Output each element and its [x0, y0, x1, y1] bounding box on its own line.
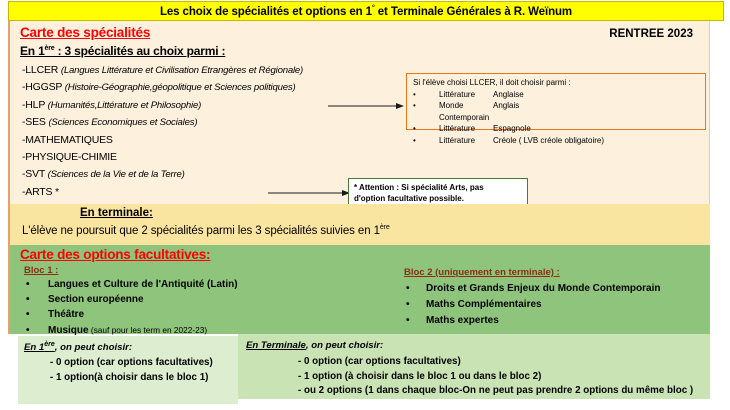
list-item: •Théâtre: [26, 307, 346, 322]
list-item: •Maths Complémentaires: [406, 297, 706, 313]
options-heading: Carte des options facultatives:: [20, 247, 210, 262]
bullet-icon: •: [26, 307, 48, 322]
terminale-band: En terminale: L'élève ne poursuit que 2 …: [8, 204, 710, 245]
llcer-box-header: Si l'élève choisi LLCER, il doit choisir…: [413, 78, 699, 87]
arrow-to-llcer-icon: [328, 101, 404, 111]
list-item: -HGGSP (Histoire-Géographie,géopolitique…: [22, 79, 362, 96]
arrow-to-attention-icon: [268, 188, 350, 198]
bloc1-list: •Langues et Culture de l'Antiquité (Lati…: [26, 277, 346, 338]
choix-premiere-superscript: ère: [44, 341, 55, 348]
bullet-icon: •: [406, 297, 426, 313]
list-item: -MATHEMATIQUES: [22, 132, 362, 149]
list-item: •Section européenne: [26, 292, 346, 307]
list-item: -SVT (Sciences de la Vie et de la Terre): [22, 166, 362, 183]
choix-terminale-line: - ou 2 options (1 dans chaque bloc-On ne…: [246, 384, 710, 399]
terminale-description: L'élève ne poursuit que 2 spécialités pa…: [22, 224, 390, 237]
bullet-icon: •: [26, 277, 48, 292]
specialites-heading: Carte des spécialités: [20, 25, 150, 40]
choix-terminale-line: - 1 option (à choisir dans le bloc 1 ou …: [246, 370, 710, 385]
bloc2-list: •Droits et Grands Enjeux du Monde Contem…: [406, 281, 706, 329]
slide-title-banner: Les choix de spécialités et options en 1…: [8, 1, 724, 21]
choix-terminale-header: En Terminale, on peut choisir:: [246, 340, 710, 351]
bullet-icon: •: [413, 123, 439, 134]
list-item: •LittératureCréole ( LVB créole obligato…: [413, 135, 699, 146]
specialites-panel: Carte des spécialités RENTREE 2023 En 1è…: [8, 21, 710, 204]
bloc1-title: Bloc 1 :: [24, 265, 58, 276]
bullet-icon: •: [413, 135, 439, 146]
list-item: -PHYSIQUE-CHIMIE: [22, 149, 362, 166]
attention-line-1: * Attention : Si spécialité Arts, pas: [354, 182, 523, 193]
list-item: -LLCER (Langues Littérature et Civilisat…: [22, 62, 362, 79]
list-item: •Langues et Culture de l'Antiquité (Lati…: [26, 277, 346, 292]
choix-premiere-box: En 1ère, on peut choisir: - 0 option (ca…: [18, 336, 238, 404]
list-item: •Monde ContemporainAnglais: [413, 100, 699, 123]
slide-canvas: Les choix de spécialités et options en 1…: [0, 0, 730, 410]
attention-line-2: d'option facultative possible.: [354, 193, 523, 204]
list-item: -SES (Sciences Economiques et Sociales): [22, 114, 362, 131]
rentree-label: RENTREE 2023: [609, 28, 693, 40]
bullet-icon: •: [406, 281, 426, 297]
bloc2-title: Bloc 2 (uniquement en terminale) :: [404, 267, 560, 278]
list-item: •LittératureEspagnole: [413, 123, 699, 134]
choix-premiere-line: - 0 option (car options facultatives): [24, 356, 238, 371]
subheading-superscript: ère: [45, 45, 55, 52]
bullet-icon: •: [26, 292, 48, 307]
llcer-choices-box: Si l'élève choisi LLCER, il doit choisir…: [406, 73, 706, 130]
list-item: -HLP (Humanités,Littérature et Philosoph…: [22, 97, 362, 114]
options-facultatives-panel: Carte des options facultatives: Bloc 1 :…: [8, 245, 710, 334]
choix-premiere-header: En 1ère, on peut choisir:: [24, 341, 238, 353]
choix-premiere-line: - 1 option(à choisir dans le bloc 1): [24, 371, 238, 386]
choix-terminale-box: En Terminale, on peut choisir: - 0 optio…: [238, 334, 710, 399]
choix-terminale-line: - 0 option (car options facultatives): [246, 355, 710, 370]
list-item: •Maths expertes: [406, 313, 706, 329]
list-item: •Droits et Grands Enjeux du Monde Contem…: [406, 281, 706, 297]
bullet-icon: •: [413, 89, 439, 100]
bullet-icon: •: [413, 100, 439, 123]
terminale-heading: En terminale:: [80, 207, 153, 219]
bullet-icon: •: [406, 313, 426, 329]
list-item: •LittératureAnglaise: [413, 89, 699, 100]
terminale-superscript: ère: [380, 224, 390, 231]
page-title: Les choix de spécialités et options en 1…: [160, 5, 572, 18]
en-premiere-subheading: En 1ère : 3 spécialités au choix parmi :: [20, 44, 225, 58]
